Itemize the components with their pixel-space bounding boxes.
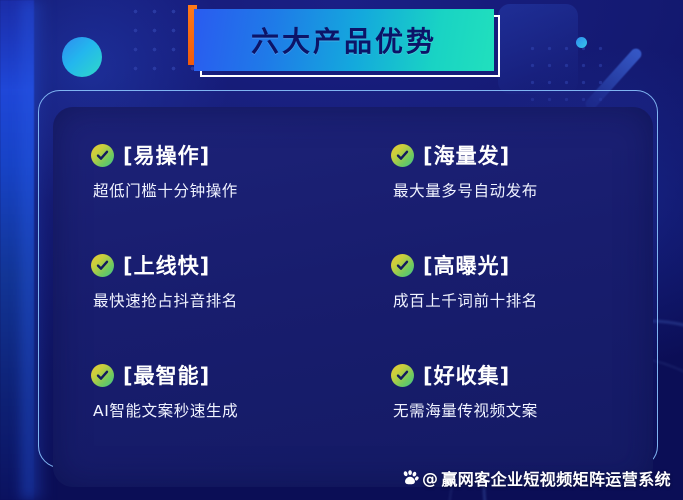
promo-poster: 六大产品优势 [易操作] 超低门槛十分钟操作 [海量发] 最大量多号自动发布	[0, 0, 683, 500]
feature-title: [上线快]	[123, 250, 210, 280]
small-dot-icon	[576, 37, 587, 48]
feature-title: [海量发]	[423, 140, 510, 170]
check-circle-icon	[391, 364, 414, 387]
feature-title: [易操作]	[123, 140, 210, 170]
feature-heading: [易操作]	[91, 140, 353, 170]
banner-gradient-fill: 六大产品优势	[194, 9, 494, 71]
feature-heading: [上线快]	[91, 250, 353, 280]
check-circle-icon	[91, 144, 114, 167]
watermark: @ 赢网客企业短视频矩阵运营系统	[401, 466, 671, 490]
gradient-circle-icon	[62, 37, 102, 77]
at-symbol: @	[422, 469, 438, 488]
feature-item-5[interactable]: [最智能] AI智能文案秒速生成	[53, 360, 353, 470]
feature-item-2[interactable]: [海量发] 最大量多号自动发布	[353, 140, 653, 250]
title-banner: 六大产品优势	[188, 5, 506, 81]
baidu-paw-icon	[401, 469, 419, 487]
feature-heading: [海量发]	[391, 140, 653, 170]
feature-title: [好收集]	[423, 360, 510, 390]
feature-subtitle: 无需海量传视频文案	[393, 399, 653, 421]
check-circle-icon	[91, 364, 114, 387]
feature-title: [最智能]	[123, 360, 210, 390]
feature-subtitle: AI智能文案秒速生成	[93, 399, 353, 421]
check-circle-icon	[391, 254, 414, 277]
feature-grid: [易操作] 超低门槛十分钟操作 [海量发] 最大量多号自动发布 [上线快] 最快…	[53, 140, 653, 470]
feature-subtitle: 成百上千词前十排名	[393, 289, 653, 311]
watermark-text: 赢网客企业短视频矩阵运营系统	[441, 466, 671, 490]
feature-subtitle: 最大量多号自动发布	[393, 179, 653, 201]
feature-heading: [高曝光]	[391, 250, 653, 280]
feature-heading: [最智能]	[91, 360, 353, 390]
feature-item-6[interactable]: [好收集] 无需海量传视频文案	[353, 360, 653, 470]
feature-item-1[interactable]: [易操作] 超低门槛十分钟操作	[53, 140, 353, 250]
feature-heading: [好收集]	[391, 360, 653, 390]
check-circle-icon	[391, 144, 414, 167]
page-title: 六大产品优势	[251, 20, 437, 60]
feature-item-3[interactable]: [上线快] 最快速抢占抖音排名	[53, 250, 353, 360]
feature-item-4[interactable]: [高曝光] 成百上千词前十排名	[353, 250, 653, 360]
feature-title: [高曝光]	[423, 250, 510, 280]
check-circle-icon	[91, 254, 114, 277]
feature-subtitle: 最快速抢占抖音排名	[93, 289, 353, 311]
feature-subtitle: 超低门槛十分钟操作	[93, 179, 353, 201]
